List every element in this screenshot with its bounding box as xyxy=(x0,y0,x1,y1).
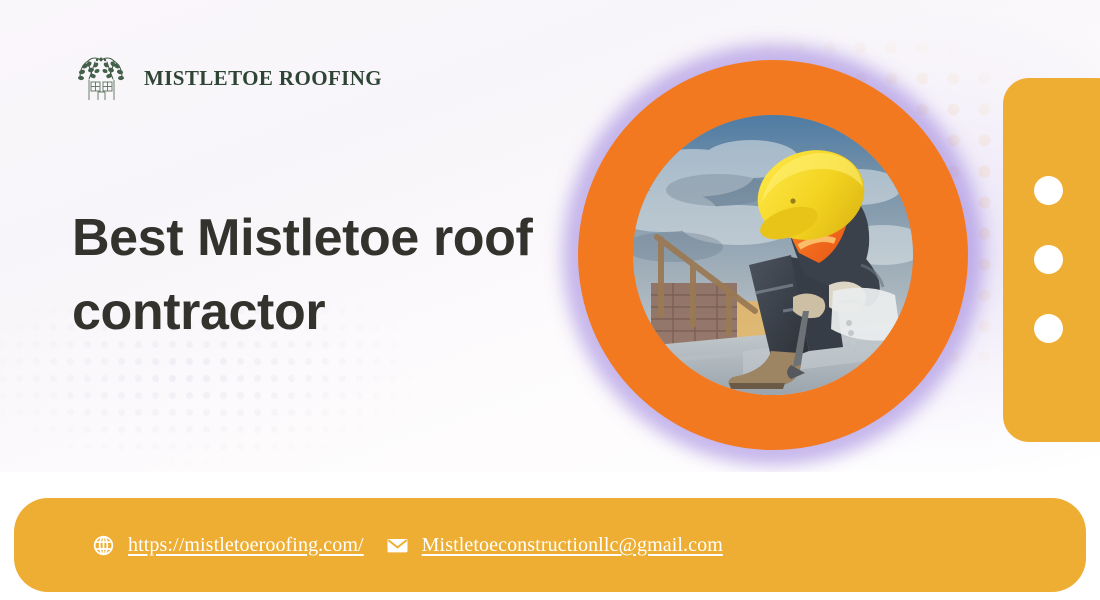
brand-name: Mistletoe Roofing xyxy=(144,66,382,91)
side-accent-panel xyxy=(1003,78,1100,442)
email-link[interactable]: Mistletoeconstructionllc@gmail.com xyxy=(422,534,723,557)
globe-icon xyxy=(92,534,115,557)
panel-dot-3 xyxy=(1034,314,1063,343)
contact-email[interactable]: Mistletoeconstructionllc@gmail.com xyxy=(386,534,723,557)
brand-logo[interactable]: Mistletoe Roofing xyxy=(72,52,382,104)
panel-dot-2 xyxy=(1034,245,1063,274)
roofing-worker-photo xyxy=(578,60,968,450)
website-link[interactable]: https://mistletoeroofing.com/ xyxy=(128,534,364,557)
contact-website[interactable]: https://mistletoeroofing.com/ xyxy=(92,534,364,557)
panel-dot-1 xyxy=(1034,176,1063,205)
promo-poster: Mistletoe Roofing Best Mistletoe roof co… xyxy=(0,0,1100,600)
mistletoe-house-icon xyxy=(72,52,130,104)
footer-contact-bar: https://mistletoeroofing.com/ Mistletoec… xyxy=(14,498,1086,592)
page-title: Best Mistletoe roof contractor xyxy=(72,202,572,350)
photo-image-clip xyxy=(633,115,913,395)
envelope-icon xyxy=(386,534,409,557)
worker-illustration xyxy=(633,115,913,395)
hero-section: Mistletoe Roofing Best Mistletoe roof co… xyxy=(0,0,1100,472)
